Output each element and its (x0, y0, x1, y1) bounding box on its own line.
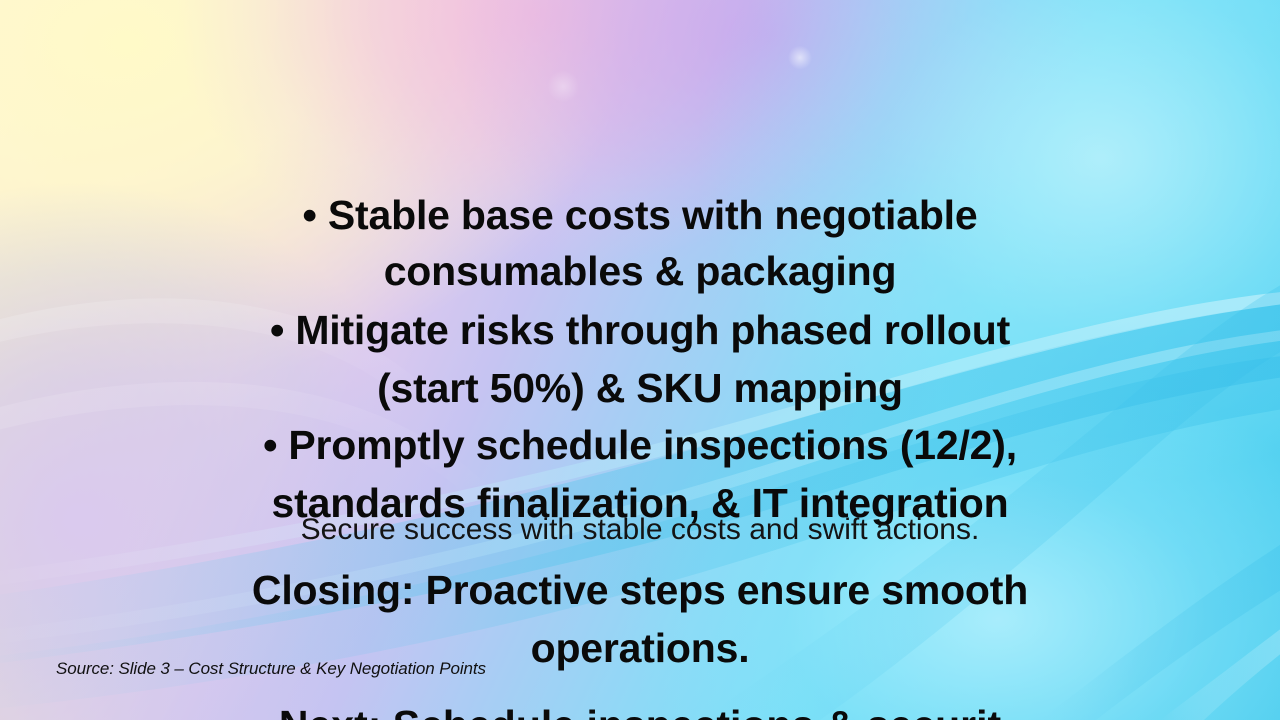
bullet-line-5: • Promptly schedule inspections (12/2), (0, 416, 1280, 474)
bullet-line-3: • Mitigate risks through phased rollout (0, 301, 1280, 359)
source-citation: Source: Slide 3 – Cost Structure & Key N… (56, 658, 486, 680)
next-steps-line: Next: Schedule inspections & securit (0, 696, 1280, 720)
closing-line-1: Closing: Proactive steps ensure smooth (0, 561, 1280, 619)
subtitle-text: Secure success with stable costs and swi… (0, 513, 1280, 547)
bullet-line-4: (start 50%) & SKU mapping (0, 359, 1280, 417)
bullet-line-2: consumables & packaging (0, 242, 1280, 300)
bullet-line-1: • Stable base costs with negotiable (0, 186, 1280, 244)
presentation-slide: • Stable base costs with negotiable cons… (0, 0, 1280, 720)
slide-text-layer: • Stable base costs with negotiable cons… (0, 0, 1280, 720)
